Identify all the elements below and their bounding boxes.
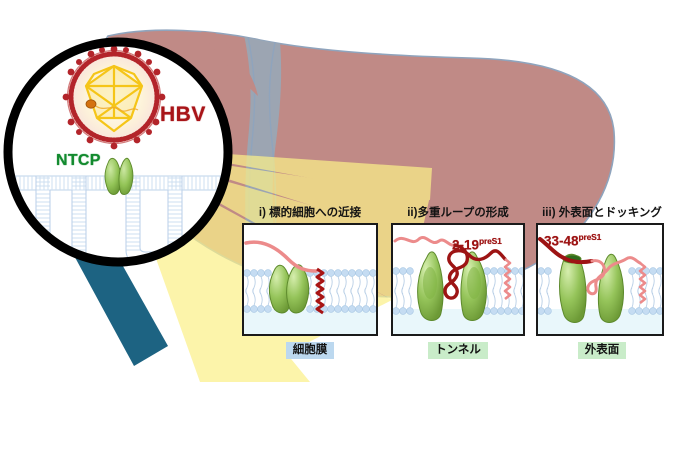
- hbv-label: HBV: [160, 103, 206, 127]
- figure-canvas: HBV NTCP i) 標的細胞への近接: [0, 0, 675, 450]
- hbv-polymerase: [86, 100, 96, 108]
- panel-1-caption: 細胞膜: [286, 342, 335, 359]
- panel-3-caption: 外表面: [578, 342, 627, 359]
- mechanism-panels: i) 標的細胞への近接: [236, 206, 672, 366]
- panel-2-title: ii)多重ループの形成: [386, 206, 530, 221]
- panel-3-caption-row: 外表面: [532, 342, 672, 359]
- panel-3-pres1-sup: preS1: [579, 232, 602, 242]
- panel-2-pres1-label: 2-19preS1: [452, 236, 502, 253]
- panel-3-pres1-range: 33-48: [544, 234, 579, 249]
- panel-1-caption-row: 細胞膜: [236, 342, 384, 359]
- ntcp-label: NTCP: [56, 152, 101, 170]
- panel-1-scene: [244, 225, 376, 334]
- hbv-virion: [63, 46, 166, 150]
- panel-2-caption: トンネル: [428, 342, 488, 359]
- panel-2-pres1-sup: preS1: [479, 236, 502, 246]
- panel-1-title: i) 標的細胞への近接: [236, 206, 384, 221]
- panel-2-pres1-range: 2-19: [452, 238, 479, 253]
- panel-3-title: iii) 外表面とドッキング: [532, 206, 672, 221]
- panel-1-box: [242, 223, 378, 336]
- panel-3-pres1-label: 33-48preS1: [544, 232, 601, 249]
- panel-2-caption-row: トンネル: [386, 342, 530, 359]
